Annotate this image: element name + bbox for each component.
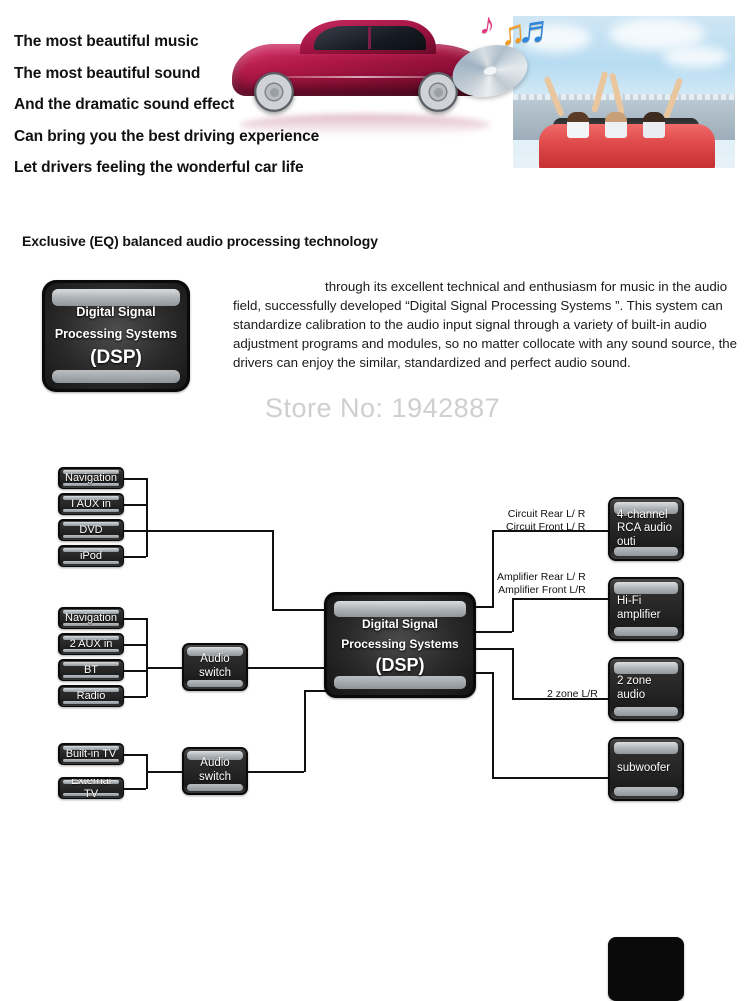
- wire-rca-run: [492, 530, 608, 532]
- output-label: Hi-Fiamplifier: [610, 595, 682, 622]
- source-box-dvd[interactable]: DVD: [58, 519, 124, 541]
- wire-g1-nav: [124, 478, 146, 480]
- wire-g1-aux: [124, 504, 146, 506]
- slogan-line: Can bring you the best driving experienc…: [14, 129, 319, 145]
- source-label: External TV: [60, 779, 123, 798]
- dsp-core-line1: Digital Signal: [341, 614, 458, 634]
- wire-g3-builtin: [124, 754, 146, 756]
- dsp-description-paragraph: through its excellent technical and enth…: [233, 278, 745, 372]
- source-box-built-in-tv[interactable]: Built-in TV: [58, 743, 124, 765]
- source-label: Navigation: [61, 472, 121, 485]
- slogan-line: The most beautiful sound: [14, 66, 319, 82]
- wire-g2-to-switch: [146, 667, 182, 669]
- wire-sub-drop: [492, 672, 494, 777]
- dsp-core-line3: (DSP): [341, 655, 458, 677]
- dsp-badge: Digital Signal Processing Systems (DSP): [42, 280, 190, 392]
- wire-g1-trunk: [146, 530, 272, 532]
- source-box-aux-in-2[interactable]: 2 AUX in: [58, 633, 124, 655]
- cd-with-music-notes-image: ♪ ♫ ♬: [452, 8, 547, 100]
- dsp-core-line2: Processing Systems: [341, 634, 458, 654]
- wire-zone-drop: [512, 648, 514, 698]
- source-label: Built-in TV: [62, 748, 121, 761]
- page-root: The most beautiful music The most beauti…: [0, 0, 750, 820]
- dsp-badge-line1: Digital Signal: [55, 302, 177, 324]
- passenger: [567, 112, 589, 138]
- audio-switch-2[interactable]: Audioswitch: [182, 747, 248, 795]
- source-box-aux-in-1[interactable]: I AUX in: [58, 493, 124, 515]
- wire-zone-run: [512, 698, 608, 700]
- output-box-rca[interactable]: 4-channelRCA audioouti: [608, 497, 684, 561]
- slogan-line: The most beautiful music: [14, 34, 319, 50]
- store-number-watermark: Store No: 1942887: [265, 393, 500, 424]
- output-label: 4-channelRCA audioouti: [610, 509, 682, 550]
- passenger: [643, 112, 665, 138]
- slogan-line: Let drivers feeling the wonderful car li…: [14, 160, 319, 176]
- wire-sub-run: [492, 777, 608, 779]
- wire-g1-drop: [272, 530, 274, 609]
- source-label: iPod: [76, 550, 106, 563]
- wire-g2-bt: [124, 670, 146, 672]
- disc-hole: [482, 64, 499, 77]
- output-label: 2 zoneaudio: [610, 675, 682, 702]
- wire-dsp-out-4: [476, 672, 492, 674]
- slogan-line: And the dramatic sound effect: [14, 97, 319, 113]
- source-label: BT: [80, 664, 102, 677]
- wire-dsp-out-1: [476, 606, 492, 608]
- output-label: subwoofer: [610, 762, 682, 776]
- source-box-ipod[interactable]: iPod: [58, 545, 124, 567]
- wire-label-amplifier: Amplifier Rear L/ RAmplifier Front L/R: [497, 571, 586, 597]
- wire-g1-spine: [146, 478, 148, 557]
- dsp-badge-line3: (DSP): [55, 346, 177, 370]
- wire-switch1-to-dsp: [248, 667, 326, 669]
- car-window-glass: [314, 26, 426, 50]
- source-box-bt[interactable]: BT: [58, 659, 124, 681]
- wire-g1-ipod: [124, 556, 146, 558]
- source-label: I AUX in: [67, 498, 115, 511]
- audio-switch-1[interactable]: Audioswitch: [182, 643, 248, 691]
- wire-g2-radio: [124, 696, 146, 698]
- wire-dsp-out-2: [476, 631, 512, 633]
- dsp-core-box[interactable]: Digital Signal Processing Systems (DSP): [324, 592, 476, 698]
- slogan-list: The most beautiful music The most beauti…: [14, 34, 319, 192]
- source-box-navigation-1[interactable]: Navigation: [58, 467, 124, 489]
- wire-g2-nav: [124, 618, 146, 620]
- convertible-car-body: [539, 124, 715, 168]
- source-box-navigation-2[interactable]: Navigation: [58, 607, 124, 629]
- hero-banner: The most beautiful music The most beauti…: [0, 0, 750, 190]
- source-label: Radio: [73, 690, 110, 703]
- output-box-hifi-amplifier[interactable]: Hi-Fiamplifier: [608, 577, 684, 641]
- switch-label: Audioswitch: [195, 757, 235, 784]
- paragraph-text: through its excellent technical and enth…: [233, 279, 737, 370]
- wire-dsp-out-3: [476, 648, 512, 650]
- wire-g1-dvd: [124, 530, 146, 532]
- music-note-icon: ♪: [478, 9, 497, 41]
- wire-g3-to-switch: [146, 771, 182, 773]
- wire-amp-riser: [512, 598, 514, 632]
- wire-g3-external: [124, 788, 146, 790]
- music-note-icon: ♬: [516, 8, 560, 52]
- wire-switch2-riser: [304, 690, 306, 772]
- wire-g1-to-dsp: [272, 609, 327, 611]
- output-box-2-zone-audio[interactable]: 2 zoneaudio: [608, 657, 684, 721]
- wire-switch2-leg: [248, 771, 304, 773]
- switch-label: Audioswitch: [195, 653, 235, 680]
- passenger: [605, 112, 627, 138]
- source-box-external-tv[interactable]: External TV: [58, 777, 124, 799]
- output-box-subwoofer[interactable]: subwoofer: [608, 737, 684, 801]
- wire-amp-run: [512, 598, 608, 600]
- source-label: Navigation: [61, 612, 121, 625]
- cloud: [663, 46, 729, 68]
- source-box-radio[interactable]: Radio: [58, 685, 124, 707]
- wire-g2-aux: [124, 644, 146, 646]
- section-heading: Exclusive (EQ) balanced audio processing…: [22, 233, 378, 249]
- source-label: 2 AUX in: [66, 638, 117, 651]
- dsp-badge-line2: Processing Systems: [55, 324, 177, 346]
- wire-rca-riser: [492, 530, 494, 608]
- source-label: DVD: [75, 524, 106, 537]
- wire-g2-spine: [146, 618, 148, 697]
